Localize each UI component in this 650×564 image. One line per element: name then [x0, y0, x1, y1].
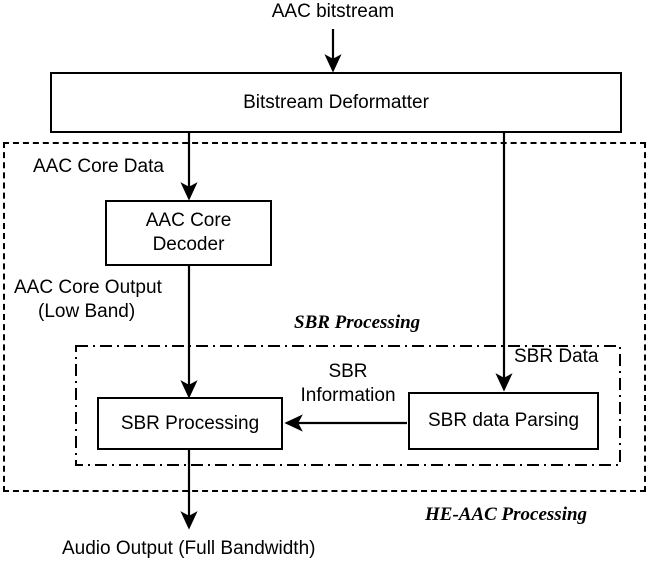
- label-aac-core-output-line1: AAC Core Output: [14, 276, 162, 300]
- box-sbr-data-parsing[interactable]: SBR data Parsing: [408, 392, 599, 450]
- label-audio-output: Audio Output (Full Bandwidth): [62, 537, 315, 561]
- label-group-sbr-processing: SBR Processing: [294, 311, 420, 335]
- box-bitstream-deformatter-label: Bitstream Deformatter: [243, 91, 429, 115]
- label-group-he-aac-processing: HE-AAC Processing: [425, 503, 587, 527]
- box-aac-core-decoder-label-line1: AAC Core: [146, 209, 232, 233]
- box-sbr-processing[interactable]: SBR Processing: [97, 397, 283, 450]
- label-sbr-data: SBR Data: [514, 345, 598, 369]
- label-aac-bitstream: AAC bitstream: [263, 0, 403, 24]
- box-aac-core-decoder[interactable]: AAC Core Decoder: [105, 200, 272, 266]
- label-sbr-information-line2: Information: [288, 384, 408, 408]
- label-aac-core-data: AAC Core Data: [33, 155, 164, 179]
- box-aac-core-decoder-label-line2: Decoder: [153, 233, 225, 257]
- box-sbr-data-parsing-label: SBR data Parsing: [428, 409, 579, 433]
- label-sbr-information-line1: SBR: [295, 360, 401, 384]
- box-sbr-processing-label: SBR Processing: [121, 412, 259, 436]
- box-bitstream-deformatter[interactable]: Bitstream Deformatter: [50, 72, 622, 133]
- diagram-canvas: AAC bitstream Bitstream Deformatter AAC …: [0, 0, 650, 564]
- label-aac-core-output-line2: (Low Band): [38, 300, 135, 324]
